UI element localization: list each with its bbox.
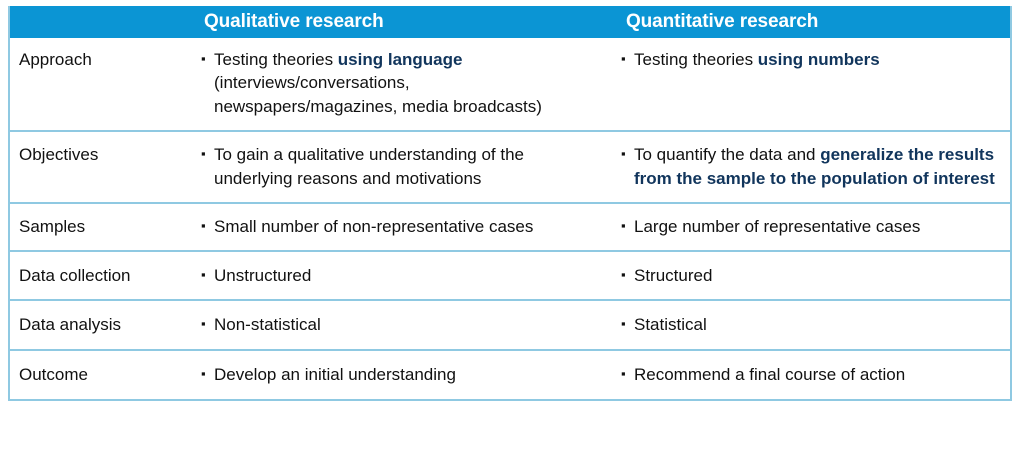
bullet-square-icon: ▪ [201,215,214,237]
header-label-quantitative: Quantitative research [621,11,818,32]
bullet-item: ▪Recommend a final course of action [621,363,1000,386]
cell-objectives-qualitative: ▪To gain a qualitative understanding of … [201,132,607,202]
bullet-text: Large number of representative cases [634,215,1000,238]
header-label-qualitative: Qualitative research [201,11,384,32]
row-label-objectives: Objectives [10,132,201,202]
bullet-item: ▪Testing theories using numbers [621,48,1000,71]
bullet-text-emphasis: using numbers [758,50,880,69]
bullet-text-plain: Large number of representative cases [634,217,920,236]
bullet-square-icon: ▪ [621,313,634,335]
bullet-item: ▪Large number of representative cases [621,215,1000,238]
bullet-item: ▪Develop an initial understanding [201,363,607,386]
bullet-text: To gain a qualitative understanding of t… [214,143,592,190]
cell-samples-quantitative: ▪Large number of representative cases [607,204,1010,249]
bullet-text: Develop an initial understanding [214,363,607,386]
bullet-text-emphasis: using language [338,50,463,69]
cell-data-collection-quantitative: ▪Structured [607,252,1010,299]
bullet-text: Unstructured [214,264,607,287]
cell-approach-quantitative: ▪Testing theories using numbers [607,38,1010,130]
cell-data-analysis-qualitative: ▪Non-statistical [201,301,607,348]
bullet-square-icon: ▪ [201,264,214,286]
bullet-item: ▪Testing theories using language (interv… [201,48,607,118]
bullet-square-icon: ▪ [201,313,214,335]
bullet-square-icon: ▪ [201,363,214,385]
cell-samples-qualitative: ▪Small number of non-representative case… [201,204,607,249]
bullet-text-plain: To quantify the data and [634,145,820,164]
bullet-text-plain: Small number of non-representative cases [214,217,533,236]
bullet-text-plain: Non-statistical [214,315,321,334]
bullet-item: ▪Statistical [621,313,1000,336]
row-label-data-analysis: Data analysis [10,301,201,348]
bullet-item: ▪To gain a qualitative understanding of … [201,143,607,190]
table-row: Approach▪Testing theories using language… [10,38,1010,130]
bullet-square-icon: ▪ [621,363,634,385]
row-label-data-collection: Data collection [10,252,201,299]
row-label-approach: Approach [10,38,201,130]
cell-outcome-qualitative: ▪Develop an initial understanding [201,351,607,399]
bullet-text-plain: Statistical [634,315,707,334]
bullet-text: Statistical [634,313,1000,336]
bullet-item: ▪Structured [621,264,1000,287]
bullet-text-tail: (interviews/conversations, newspapers/ma… [214,73,542,115]
bullet-text: Testing theories using numbers [634,48,1000,71]
table-row: Data analysis▪Non-statistical▪Statistica… [10,299,1010,348]
bullet-square-icon: ▪ [621,215,634,237]
row-label-outcome: Outcome [10,351,201,399]
bullet-item: ▪Unstructured [201,264,607,287]
bullet-text-plain: Testing theories [634,50,758,69]
bullet-text: Small number of non-representative cases [214,215,586,238]
bullet-item: ▪Non-statistical [201,313,607,336]
bullet-text-plain: Structured [634,266,712,285]
comparison-table: Qualitative research Quantitative resear… [8,6,1012,401]
bullet-text-plain: To gain a qualitative understanding of t… [214,145,524,187]
cell-objectives-quantitative: ▪To quantify the data and generalize the… [607,132,1010,202]
bullet-text: Structured [634,264,1000,287]
table-row: Data collection▪Unstructured▪Structured [10,250,1010,299]
table-row: Samples▪Small number of non-representati… [10,202,1010,249]
bullet-item: ▪To quantify the data and generalize the… [621,143,1000,190]
bullet-text: Testing theories using language (intervi… [214,48,554,118]
cell-data-analysis-quantitative: ▪Statistical [607,301,1010,348]
bullet-text-plain: Develop an initial understanding [214,365,456,384]
bullet-square-icon: ▪ [621,48,634,70]
bullet-square-icon: ▪ [201,48,214,70]
bullet-item: ▪Small number of non-representative case… [201,215,607,238]
bullet-text-plain: Recommend a final course of action [634,365,905,384]
bullet-square-icon: ▪ [201,143,214,165]
table-body: Approach▪Testing theories using language… [10,38,1010,399]
table-row: Outcome▪Develop an initial understanding… [10,349,1010,399]
row-label-samples: Samples [10,204,201,249]
table-row: Objectives▪To gain a qualitative underst… [10,130,1010,202]
cell-data-collection-qualitative: ▪Unstructured [201,252,607,299]
bullet-text-plain: Testing theories [214,50,338,69]
bullet-text: Non-statistical [214,313,607,336]
cell-approach-qualitative: ▪Testing theories using language (interv… [201,38,607,130]
table-header-row: Qualitative research Quantitative resear… [10,6,1010,38]
bullet-text: Recommend a final course of action [634,363,1000,386]
header-cell-category [10,12,201,33]
bullet-text: To quantify the data and generalize the … [634,143,1000,190]
bullet-square-icon: ▪ [621,264,634,286]
cell-outcome-quantitative: ▪Recommend a final course of action [607,351,1010,399]
bullet-square-icon: ▪ [621,143,634,165]
bullet-text-plain: Unstructured [214,266,311,285]
